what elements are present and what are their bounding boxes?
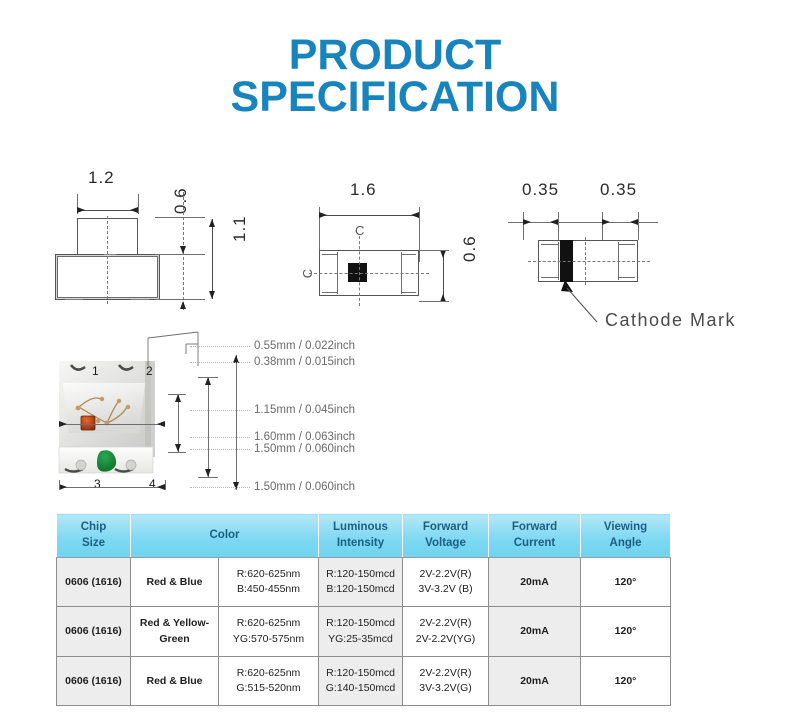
column-header-luminous-intensity: Luminous Intensity: [319, 514, 403, 558]
page-title-line-1: PRODUCT: [0, 34, 790, 76]
cell-wavelength-line2: YG:570-575nm: [222, 632, 315, 647]
callout-0-38mm: 0.38mm / 0.015inch: [254, 356, 355, 368]
pin-number-3: 3: [94, 477, 101, 491]
cell-voltage: 2V-2.2V(R) 3V-3.2V(G): [403, 656, 489, 705]
dimension-label-1-2: 1.2: [88, 168, 115, 188]
cell-wavelength-line2: B:450-455nm: [222, 582, 315, 597]
cell-intensity: R:120-150mcd G:140-150mcd: [319, 656, 403, 705]
cell-voltage-line2: 3V-3.2V(G): [406, 681, 485, 696]
page-title: PRODUCT SPECIFICATION: [0, 34, 790, 118]
cell-voltage: 2V-2.2V(R) 2V-2.2V(YG): [403, 607, 489, 656]
pin-number-4: 4: [149, 477, 156, 491]
cell-current: 20mA: [489, 558, 581, 607]
drawing-pad-layout: 0.35 0.35 Cathode Mark: [500, 182, 765, 327]
drawing-top-view: 1.6 C C 0.6: [305, 182, 485, 317]
cell-wavelength-line2: G:515-520nm: [222, 681, 315, 696]
specification-table: Chip Size Color Luminous Intensity Forwa…: [56, 513, 671, 706]
cell-color: Red & Yellow-Green: [131, 607, 219, 656]
header-color-line1: Color: [133, 528, 316, 544]
cell-chip-size: 0606 (1616): [57, 558, 131, 607]
callout-1-15mm: 1.15mm / 0.045inch: [254, 404, 355, 416]
cell-color: Red & Blue: [131, 656, 219, 705]
cell-current: 20mA: [489, 656, 581, 705]
leader-line-1: [190, 346, 250, 347]
leader-line-3: [190, 410, 250, 411]
cell-angle: 120°: [581, 558, 671, 607]
cell-voltage-line1: 2V-2.2V(R): [406, 666, 485, 681]
top-thickness-leaders: [146, 332, 216, 377]
header-luminous-line1: Luminous: [321, 520, 400, 536]
column-header-viewing-angle: Viewing Angle: [581, 514, 671, 558]
leader-line-2: [190, 362, 250, 363]
cell-chip-size: 0606 (1616): [57, 607, 131, 656]
cell-color: Red & Blue: [131, 558, 219, 607]
cell-wavelength-line1: R:620-625nm: [222, 567, 315, 582]
cathode-mark-label: Cathode Mark: [605, 310, 736, 331]
cell-intensity: R:120-150mcd B:120-150mcd: [319, 558, 403, 607]
leader-line-5: [190, 449, 250, 450]
header-luminous-line2: Intensity: [321, 536, 400, 552]
pin-number-1: 1: [92, 364, 99, 378]
dimension-label-0-6-top: 0.6: [460, 235, 480, 262]
drawing-front-side-view: 1.2 0.6 1.1: [55, 170, 250, 315]
cell-intensity-line2: YG:25-35mcd: [322, 632, 399, 647]
dimension-label-0-35-right: 0.35: [600, 180, 637, 200]
drawing-package-detail: 1 2 3 4: [50, 332, 440, 500]
cell-wavelength-line1: R:620-625nm: [222, 666, 315, 681]
dimension-label-0-6-front: 0.6: [171, 187, 191, 214]
cell-chip-size: 0606 (1616): [57, 656, 131, 705]
table-row: 0606 (1616) Red & Blue R:620-625nm G:515…: [57, 656, 671, 705]
product-specification-page: PRODUCT SPECIFICATION 1.2 0.6 1.1: [0, 0, 790, 719]
dimension-label-0-35-left: 0.35: [522, 180, 559, 200]
table-header-row: Chip Size Color Luminous Intensity Forwa…: [57, 514, 671, 558]
dimension-label-1-1: 1.1: [230, 215, 250, 242]
column-header-forward-current: Forward Current: [489, 514, 581, 558]
cell-intensity-line2: G:140-150mcd: [322, 681, 399, 696]
callout-0-55mm: 0.55mm / 0.022inch: [254, 340, 355, 352]
cell-wavelength: R:620-625nm G:515-520nm: [219, 656, 319, 705]
cell-angle: 120°: [581, 607, 671, 656]
cell-voltage: 2V-2.2V(R) 3V-3.2V (B): [403, 558, 489, 607]
cell-voltage-line1: 2V-2.2V(R): [406, 567, 485, 582]
cell-angle: 120°: [581, 656, 671, 705]
cell-voltage-line2: 2V-2.2V(YG): [406, 632, 485, 647]
header-current-line2: Current: [491, 536, 578, 552]
leader-line-6: [190, 487, 250, 488]
header-angle-line1: Viewing: [583, 520, 668, 536]
dimension-label-1-6: 1.6: [350, 180, 377, 200]
header-angle-line2: Angle: [583, 536, 668, 552]
cell-wavelength: R:620-625nm B:450-455nm: [219, 558, 319, 607]
cell-wavelength-line1: R:620-625nm: [222, 616, 315, 631]
header-chip-size-line1: Chip: [59, 520, 128, 536]
cell-intensity-line1: R:120-150mcd: [322, 666, 399, 681]
cell-intensity-line2: B:120-150mcd: [322, 582, 399, 597]
header-chip-size-line2: Size: [59, 536, 128, 552]
table-row: 0606 (1616) Red & Blue R:620-625nm B:450…: [57, 558, 671, 607]
cell-intensity-line1: R:120-150mcd: [322, 616, 399, 631]
cell-current: 20mA: [489, 607, 581, 656]
column-header-chip-size: Chip Size: [57, 514, 131, 558]
table-row: 0606 (1616) Red & Yellow-Green R:620-625…: [57, 607, 671, 656]
callout-1-60mm: 1.60mm / 0.063inch: [254, 431, 355, 443]
cell-wavelength: R:620-625nm YG:570-575nm: [219, 607, 319, 656]
callout-1-50mm-b: 1.50mm / 0.060inch: [254, 481, 355, 493]
cell-intensity-line1: R:120-150mcd: [322, 567, 399, 582]
column-header-forward-voltage: Forward Voltage: [403, 514, 489, 558]
column-header-color: Color: [131, 514, 319, 558]
cell-voltage-line1: 2V-2.2V(R): [406, 616, 485, 631]
cell-voltage-line2: 3V-3.2V (B): [406, 582, 485, 597]
leader-line-4: [190, 437, 250, 438]
header-voltage-line1: Forward: [405, 520, 486, 536]
callout-1-50mm-a: 1.50mm / 0.060inch: [254, 443, 355, 455]
page-title-line-2: SPECIFICATION: [0, 76, 790, 118]
header-current-line1: Forward: [491, 520, 578, 536]
header-voltage-line2: Voltage: [405, 536, 486, 552]
cell-intensity: R:120-150mcd YG:25-35mcd: [319, 607, 403, 656]
